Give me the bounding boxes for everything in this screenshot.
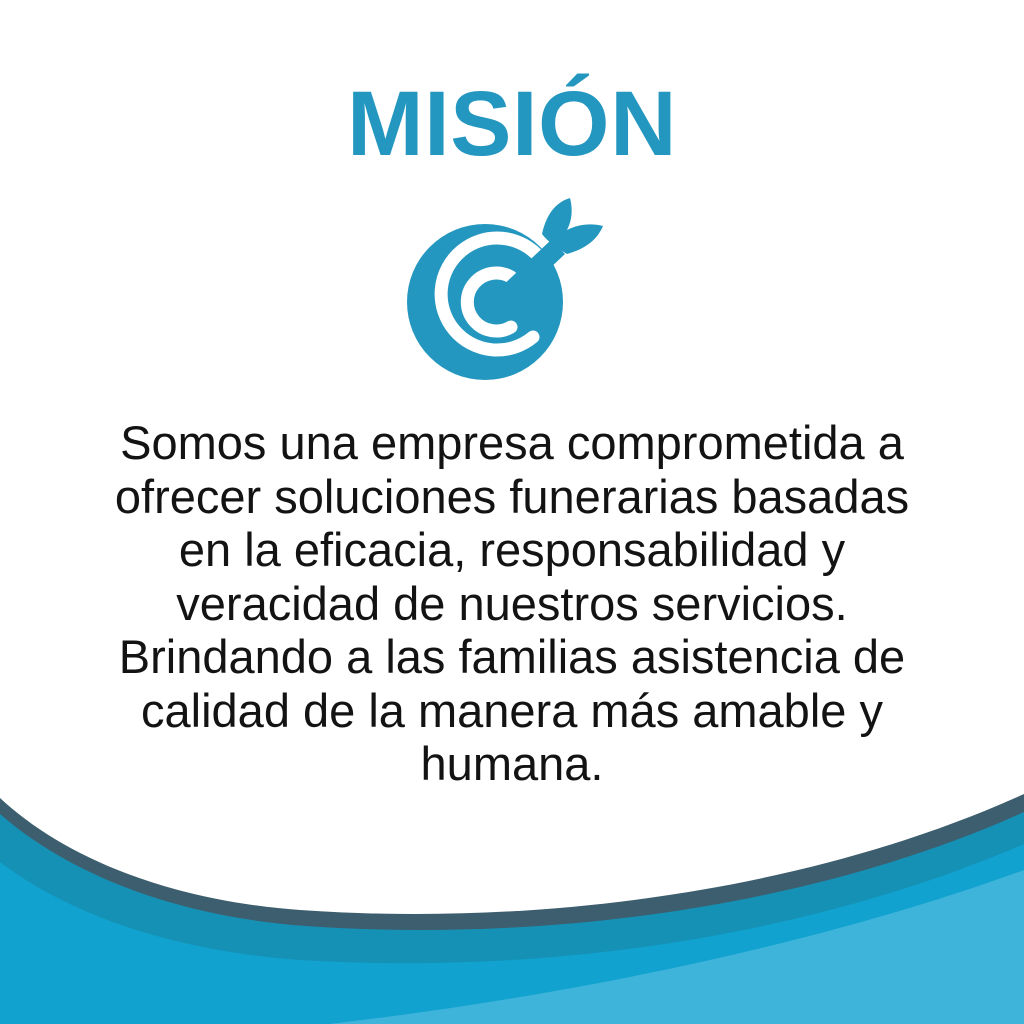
mission-line: calidad de la manera más amable y [112,684,912,738]
mission-line: Brindando a las familias asistencia de [112,630,912,684]
mission-line: humana. [112,737,912,791]
target-outer-disc [407,224,563,380]
page-title: MISIÓN [0,78,1024,170]
mission-statement: Somos una empresa comprometida a ofrecer… [112,416,912,791]
mission-card: MISIÓN Somos una empresa comprometida a … [0,0,1024,1024]
mission-line: ofrecer soluciones funerarias basadas [112,470,912,524]
mission-line: en la eficacia, responsabilidad y [112,523,912,577]
target-icon-group [407,224,563,380]
mission-line: Somos una empresa comprometida a [112,416,912,470]
mission-line: veracidad de nuestros servicios. [112,577,912,631]
target-arrow-icon [407,196,617,386]
